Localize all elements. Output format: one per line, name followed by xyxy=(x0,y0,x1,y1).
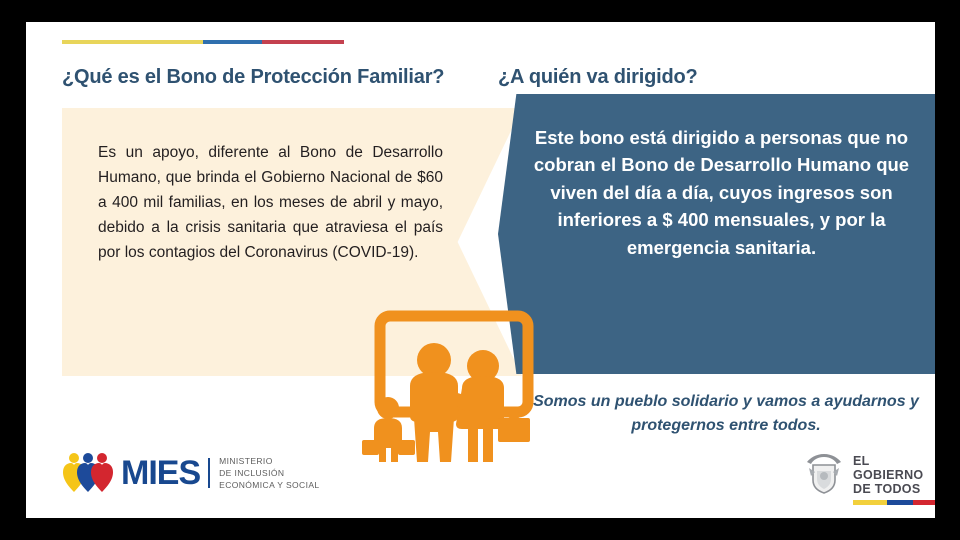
screenshot-frame: ¿Qué es el Bono de Protección Familiar? … xyxy=(0,0,960,540)
right-info-panel: Este bono está dirigido a personas que n… xyxy=(498,94,935,374)
mies-subtitle-line-3: ECONÓMICA Y SOCIAL xyxy=(219,479,319,491)
gobierno-de-todos-logo: EL GOBIERNO DE TODOS xyxy=(801,450,935,505)
ecuador-tricolor-rule xyxy=(62,40,344,44)
mies-subtitle: MINISTERIO DE INCLUSIÓN ECONÓMICA Y SOCI… xyxy=(219,455,319,491)
heading-que-es-el-bono: ¿Qué es el Bono de Protección Familiar? xyxy=(62,66,444,89)
mies-wordmark: MIES xyxy=(121,456,200,490)
tricolor-blue-segment xyxy=(203,40,262,44)
mies-subtitle-line-2: DE INCLUSIÓN xyxy=(219,467,319,479)
gobierno-text-block: EL GOBIERNO DE TODOS xyxy=(853,450,935,505)
gobierno-tricolor-red xyxy=(913,500,935,505)
gobierno-line-1: EL xyxy=(853,454,935,468)
gobierno-tricolor-blue xyxy=(887,500,913,505)
gobierno-tricolor-rule xyxy=(853,500,935,505)
mies-people-hearts-icon xyxy=(62,452,114,494)
gobierno-tricolor-yellow xyxy=(853,500,887,505)
mies-logo-divider xyxy=(208,458,210,488)
slide-canvas: ¿Qué es el Bono de Protección Familiar? … xyxy=(26,22,935,518)
family-pictogram-icon xyxy=(356,294,541,462)
mies-logo: MIES MINISTERIO DE INCLUSIÓN ECONÓMICA Y… xyxy=(62,452,320,494)
gobierno-line-2: GOBIERNO xyxy=(853,468,935,482)
tricolor-red-segment xyxy=(262,40,344,44)
tricolor-yellow-segment xyxy=(62,40,203,44)
gobierno-line-3: DE TODOS xyxy=(853,482,935,496)
right-panel-body-text: Este bono está dirigido a personas que n… xyxy=(526,124,917,261)
left-panel-body-text: Es un apoyo, diferente al Bono de Desarr… xyxy=(98,140,443,266)
closing-message: Somos un pueblo solidario y vamos a ayud… xyxy=(526,390,926,438)
ecuador-coat-of-arms-icon xyxy=(801,450,847,496)
mies-subtitle-line-1: MINISTERIO xyxy=(219,455,319,467)
heading-a-quien-va-dirigido: ¿A quién va dirigido? xyxy=(498,66,698,89)
